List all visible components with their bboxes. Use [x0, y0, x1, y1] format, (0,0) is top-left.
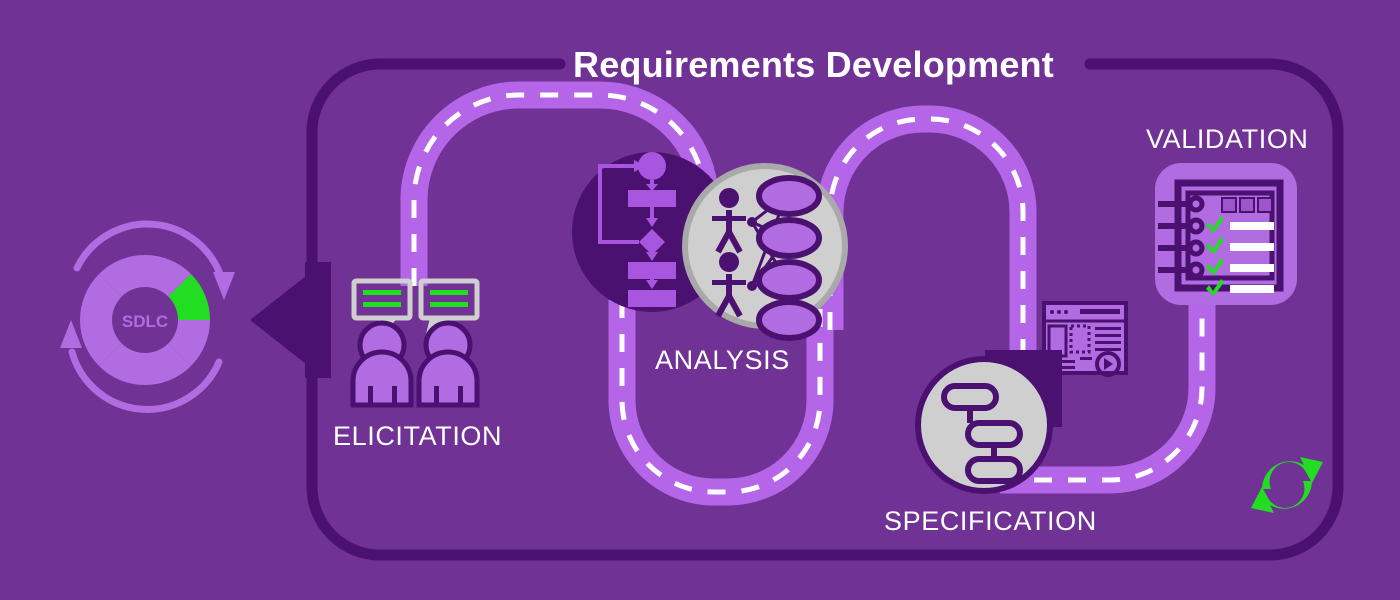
diagram-canvas: SDLC: [0, 0, 1400, 600]
stage-label-elicitation: ELICITATION: [333, 421, 502, 452]
roadmap-graphics: SDLC: [0, 0, 1400, 600]
person-right-icon: [419, 323, 477, 405]
sdlc-arrowhead-right: [213, 272, 235, 300]
stage-label-analysis: ANALYSIS: [655, 345, 790, 376]
entry-arrow-stem: [305, 262, 331, 378]
elicitation-icon[interactable]: [353, 281, 477, 405]
stage-label-validation: VALIDATION: [1146, 124, 1309, 155]
notebook-toolbar-icon: [1222, 198, 1272, 212]
sdlc-label: SDLC: [122, 312, 168, 331]
stage-label-specification: SPECIFICATION: [884, 506, 1097, 537]
sdlc-wheel[interactable]: SDLC: [60, 224, 235, 409]
page-title: Requirements Development: [573, 44, 1054, 86]
validation-icon[interactable]: [1155, 163, 1297, 305]
person-left-icon: [353, 323, 411, 405]
sdlc-arrowhead-left: [60, 320, 82, 348]
refresh-loop-icon[interactable]: [1251, 457, 1323, 513]
